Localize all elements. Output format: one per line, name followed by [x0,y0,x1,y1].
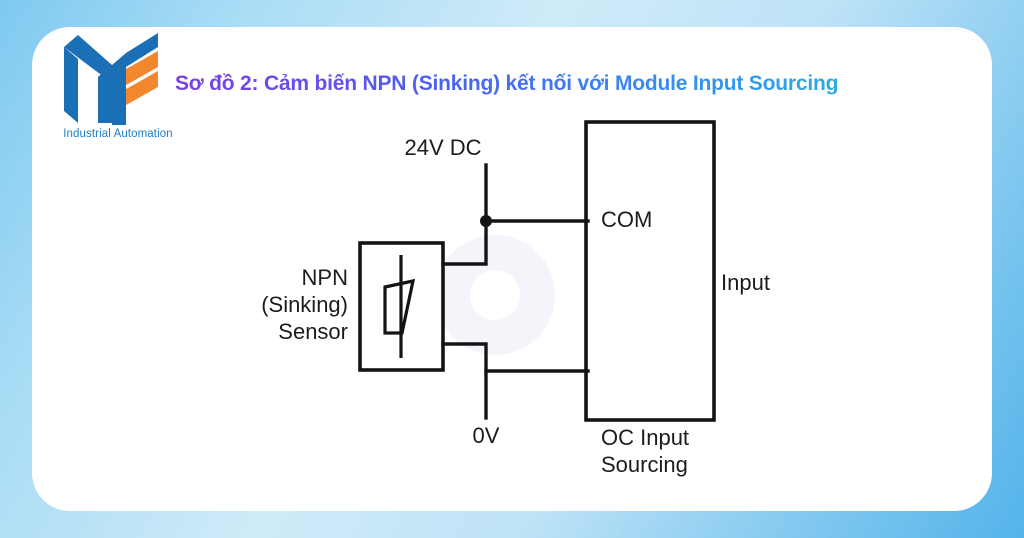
wiring-diagram: 24V DC 0V COM Input OC Input Sourcing NP… [0,0,1024,538]
label-sensor-sensor: Sensor [278,319,348,344]
input-module-box[interactable] [586,122,714,420]
label-sensor-sinking: (Sinking) [261,292,348,317]
label-sensor-npn: NPN [302,265,348,290]
label-0v: 0V [473,423,500,448]
label-sourcing: Sourcing [601,452,688,477]
label-input: Input [721,270,770,295]
label-oc-input: OC Input [601,425,689,450]
screenshot-root: Industrial Automation Sơ đồ 2: Cảm biến … [0,0,1024,538]
label-com: COM [601,207,652,232]
junction-dot [480,215,492,227]
ring-watermark-icon [435,235,555,355]
label-24v-dc: 24V DC [404,135,481,160]
